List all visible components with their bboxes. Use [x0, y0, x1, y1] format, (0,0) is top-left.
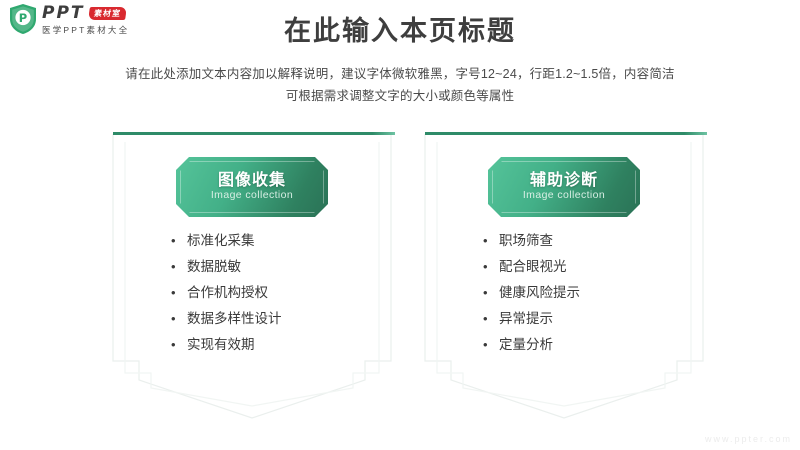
panel-badge-subtitle: Image collection: [176, 189, 328, 201]
bullet-dot-icon: •: [483, 258, 499, 276]
panel-bullet-list: • 职场筛查 • 配合眼视光 • 健康风险提示 • 异常提示 • 定量分析: [483, 232, 703, 362]
page-title: 在此输入本页标题: [0, 14, 800, 48]
footer-watermark: www.ppter.com: [705, 434, 792, 444]
list-item-label: 健康风险提示: [499, 284, 580, 302]
bullet-dot-icon: •: [171, 336, 187, 354]
list-item-label: 职场筛查: [499, 232, 553, 250]
list-item[interactable]: • 数据脱敏: [171, 258, 391, 276]
panel-top-rule: [113, 132, 395, 135]
bullet-dot-icon: •: [171, 284, 187, 302]
list-item-label: 实现有效期: [187, 336, 255, 354]
bullet-dot-icon: •: [483, 284, 499, 302]
bullet-dot-icon: •: [483, 310, 499, 328]
bullet-dot-icon: •: [483, 336, 499, 354]
panel-assisted-diagnosis[interactable]: 辅助诊断 Image collection • 职场筛查 • 配合眼视光 • 健…: [415, 130, 713, 420]
content-panels: 图像收集 Image collection • 标准化采集 • 数据脱敏 • 合…: [0, 130, 800, 420]
subtitle-line-2: 可根据需求调整文字的大小或颜色等属性: [0, 85, 800, 107]
list-item[interactable]: • 实现有效期: [171, 336, 391, 354]
bullet-dot-icon: •: [171, 232, 187, 250]
subtitle-line-1: 请在此处添加文本内容加以解释说明，建议字体微软雅黑，字号12~24，行距1.2~…: [0, 63, 800, 85]
list-item[interactable]: • 健康风险提示: [483, 284, 703, 302]
panel-badge-subtitle: Image collection: [488, 189, 640, 201]
page-subtitle: 请在此处添加文本内容加以解释说明，建议字体微软雅黑，字号12~24，行距1.2~…: [0, 63, 800, 107]
list-item-label: 数据多样性设计: [187, 310, 282, 328]
panel-image-collection[interactable]: 图像收集 Image collection • 标准化采集 • 数据脱敏 • 合…: [103, 130, 401, 420]
list-item[interactable]: • 定量分析: [483, 336, 703, 354]
panel-badge[interactable]: 图像收集 Image collection: [176, 157, 328, 217]
bullet-dot-icon: •: [171, 258, 187, 276]
list-item-label: 配合眼视光: [499, 258, 567, 276]
bullet-dot-icon: •: [171, 310, 187, 328]
bullet-dot-icon: •: [483, 232, 499, 250]
panel-badge[interactable]: 辅助诊断 Image collection: [488, 157, 640, 217]
panel-bullet-list: • 标准化采集 • 数据脱敏 • 合作机构授权 • 数据多样性设计 • 实现有效…: [171, 232, 391, 362]
list-item-label: 标准化采集: [187, 232, 255, 250]
panel-badge-title: 辅助诊断: [488, 166, 640, 190]
list-item-label: 异常提示: [499, 310, 553, 328]
list-item[interactable]: • 合作机构授权: [171, 284, 391, 302]
list-item[interactable]: • 异常提示: [483, 310, 703, 328]
list-item[interactable]: • 数据多样性设计: [171, 310, 391, 328]
list-item[interactable]: • 职场筛查: [483, 232, 703, 250]
panel-badge-title: 图像收集: [176, 166, 328, 190]
list-item-label: 合作机构授权: [187, 284, 268, 302]
list-item-label: 定量分析: [499, 336, 553, 354]
list-item[interactable]: • 配合眼视光: [483, 258, 703, 276]
list-item[interactable]: • 标准化采集: [171, 232, 391, 250]
list-item-label: 数据脱敏: [187, 258, 241, 276]
panel-top-rule: [425, 132, 707, 135]
